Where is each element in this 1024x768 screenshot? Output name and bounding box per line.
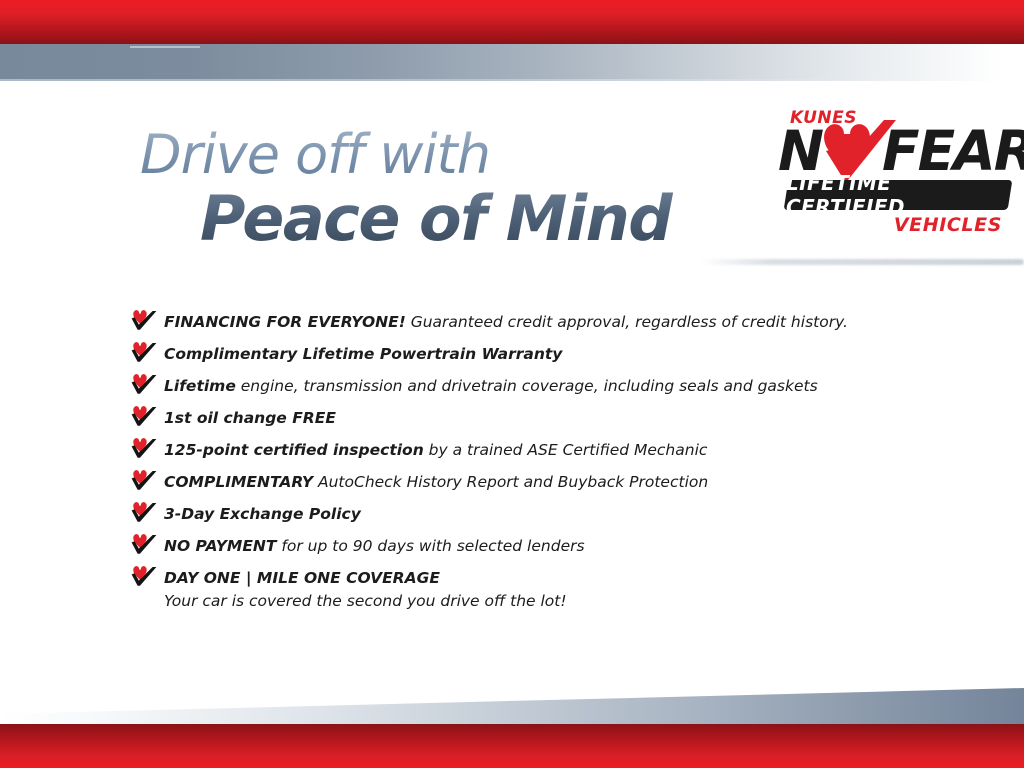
benefit-item: 3-Day Exchange Policy xyxy=(130,498,930,530)
benefit-text: Complimentary Lifetime Powertrain Warran… xyxy=(164,338,930,370)
top-red-band xyxy=(0,0,1024,44)
benefits-list: FINANCING FOR EVERYONE! Guaranteed credi… xyxy=(130,306,930,612)
benefit-text-regular: AutoCheck History Report and Buyback Pro… xyxy=(313,473,708,491)
benefit-item: Complimentary Lifetime Powertrain Warran… xyxy=(130,338,930,370)
benefit-text-regular: engine, transmission and drivetrain cove… xyxy=(236,377,818,395)
top-gray-band xyxy=(0,44,1024,81)
benefit-text-bold: Lifetime xyxy=(164,377,236,395)
benefit-text: 3-Day Exchange Policy xyxy=(164,498,930,530)
heart-check-icon xyxy=(130,565,157,587)
benefit-text-bold: FINANCING FOR EVERYONE! xyxy=(164,313,406,331)
benefit-text-regular: for up to 90 days with selected lenders xyxy=(276,537,584,555)
heart-check-icon xyxy=(130,309,157,331)
headline-divider xyxy=(700,259,1024,265)
benefit-text-bold: DAY ONE | MILE ONE COVERAGE xyxy=(164,569,440,587)
benefit-text: 1st oil change FREE xyxy=(164,402,930,434)
heart-check-icon xyxy=(130,405,157,427)
benefit-item: FINANCING FOR EVERYONE! Guaranteed credi… xyxy=(130,306,930,338)
heart-check-icon xyxy=(130,501,157,523)
benefit-text-regular: Guaranteed credit approval, regardless o… xyxy=(406,313,848,331)
benefit-text: DAY ONE | MILE ONE COVERAGE xyxy=(164,562,930,594)
benefit-item: Lifetime engine, transmission and drivet… xyxy=(130,370,930,402)
heart-check-icon xyxy=(130,341,157,363)
benefit-text: FINANCING FOR EVERYONE! Guaranteed credi… xyxy=(164,306,930,338)
promo-poster: Drive off with Peace of Mind KUNES N FEA… xyxy=(0,0,1024,768)
benefit-item: NO PAYMENT for up to 90 days with select… xyxy=(130,530,930,562)
headline-line-2: Peace of Mind xyxy=(200,186,740,252)
benefit-text-bold: COMPLIMENTARY xyxy=(164,473,313,491)
top-gray-highlight xyxy=(130,46,200,48)
logo-word-vehicles: VEHICLES xyxy=(894,214,1002,236)
heart-check-icon xyxy=(130,533,157,555)
benefit-text: Lifetime engine, transmission and drivet… xyxy=(164,370,930,402)
benefit-item: 1st oil change FREE xyxy=(130,402,930,434)
heart-check-icon xyxy=(130,437,157,459)
benefit-text-bold: Complimentary Lifetime Powertrain Warran… xyxy=(164,345,562,363)
benefit-item: DAY ONE | MILE ONE COVERAGE xyxy=(130,562,930,594)
headline-line-1: Drive off with xyxy=(140,126,740,184)
benefit-text-bold: NO PAYMENT xyxy=(164,537,276,555)
benefit-text: 125-point certified inspection by a trai… xyxy=(164,434,930,466)
bottom-red-band xyxy=(0,724,1024,768)
benefit-text-bold: 1st oil change FREE xyxy=(164,409,336,427)
kunes-no-fear-logo: KUNES N FEAR LIFETIME CERTIFIED VEHICLES xyxy=(778,108,1010,242)
benefit-item: COMPLIMENTARY AutoCheck History Report a… xyxy=(130,466,930,498)
heart-check-icon xyxy=(130,469,157,491)
benefit-text: NO PAYMENT for up to 90 days with select… xyxy=(164,530,930,562)
bottom-gray-band xyxy=(0,688,1024,724)
heart-check-icon xyxy=(130,373,157,395)
benefit-item: 125-point certified inspection by a trai… xyxy=(130,434,930,466)
benefit-text-bold: 125-point certified inspection xyxy=(164,441,424,459)
benefit-text-regular: by a trained ASE Certified Mechanic xyxy=(424,441,708,459)
logo-bar-label: LIFETIME CERTIFIED xyxy=(786,180,1010,210)
benefit-text-bold: 3-Day Exchange Policy xyxy=(164,505,361,523)
benefit-text: COMPLIMENTARY AutoCheck History Report a… xyxy=(164,466,930,498)
headline: Drive off with Peace of Mind xyxy=(140,126,740,252)
